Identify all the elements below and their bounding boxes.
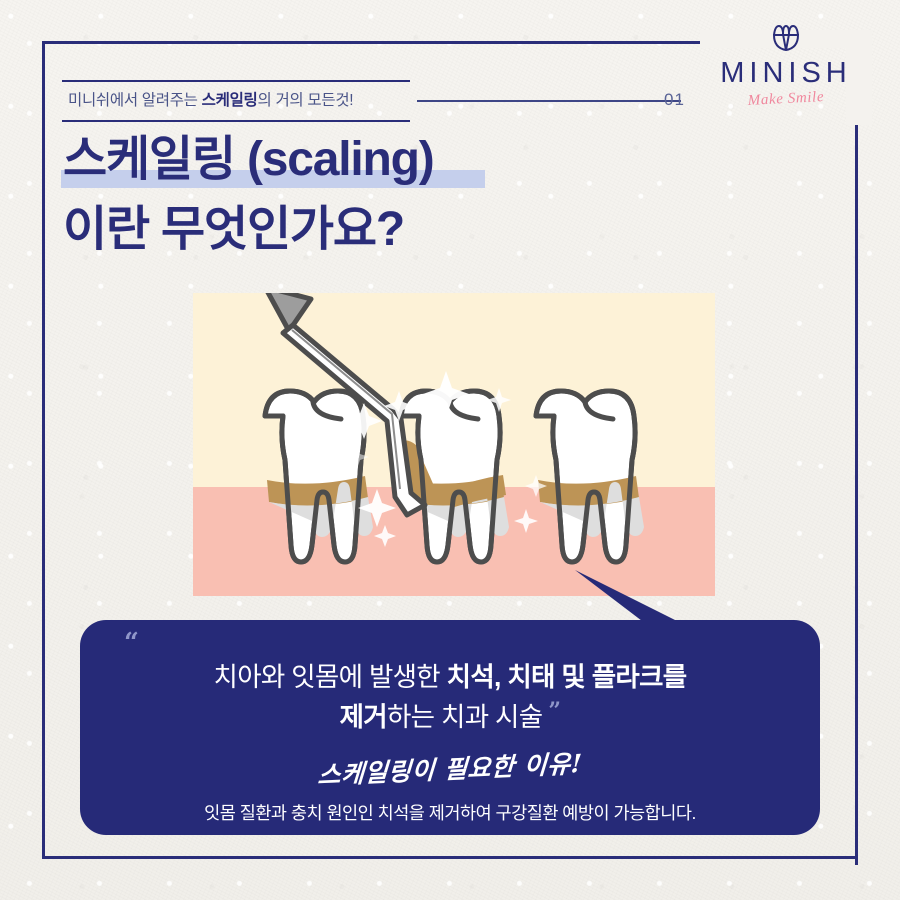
brand-logo: MINISH Make Smile [706, 22, 866, 108]
title-line-2-wrap: 이란 무엇인가요? [63, 204, 434, 262]
quote-open-mark: “ [124, 628, 139, 658]
eyebrow-dash-rule [417, 100, 681, 102]
quote-line-1: 치아와 잇몸에 발생한 치석, 치태 및 플라크를 [80, 655, 820, 694]
page-title: 스케일링 (scaling) 이란 무엇인가요? [63, 134, 434, 262]
tulip-icon [766, 22, 806, 58]
eyebrow-suffix: 의 거의 모든것! [258, 92, 354, 109]
eyebrow-prefix: 미니쉬에서 알려주는 [68, 92, 202, 109]
page-number: 01 [664, 90, 685, 110]
illustration-svg [193, 293, 715, 596]
title-line-2: 이란 무엇인가요? [63, 203, 404, 256]
quote-line-2: 제거하는 치과 시술” [80, 695, 820, 734]
quote-close-mark: ” [548, 698, 560, 724]
eyebrow-rule-bottom [62, 120, 410, 122]
quote-line-2-bold: 제거 [340, 702, 387, 732]
brand-name: MINISH [706, 59, 866, 88]
title-line-1: 스케일링 (scaling) [63, 133, 434, 186]
eyebrow-rule-top [62, 80, 410, 82]
frame-right-rule [855, 128, 858, 865]
quote-line-2-plain: 하는 치과 시술 [387, 702, 542, 732]
eyebrow-block: 미니쉬에서 알려주는 스케일링의 거의 모든것! [62, 80, 702, 122]
quote-card: “ 치아와 잇몸에 발생한 치석, 치태 및 플라크를 제거하는 치과 시술” … [80, 620, 820, 835]
quote-line-1-bold: 치석, 치태 및 플라크를 [447, 662, 687, 692]
eyebrow-text: 미니쉬에서 알려주는 스케일링의 거의 모든것! [68, 88, 353, 110]
title-line-1-wrap: 스케일링 (scaling) [63, 134, 434, 192]
dental-scaling-illustration [193, 293, 715, 596]
card-caption: 잇몸 질환과 충치 원인인 치석을 제거하여 구강질환 예방이 가능합니다. [80, 800, 820, 825]
quote-line-1-plain: 치아와 잇몸에 발생한 [214, 662, 447, 692]
handwritten-subheading: 스케일링이 필요한 이유! [79, 733, 820, 803]
eyebrow-bold: 스케일링 [202, 92, 258, 109]
